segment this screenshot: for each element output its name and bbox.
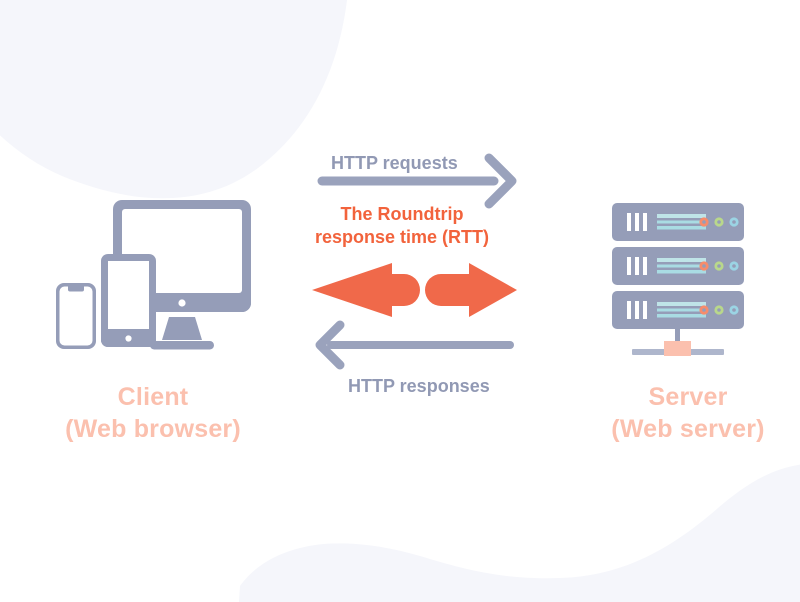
server-stack-group	[612, 203, 744, 356]
rack-data-line-hatched	[657, 258, 706, 262]
client-label: Client (Web browser)	[28, 381, 278, 445]
rack-slot-bar	[627, 213, 631, 231]
rack-led-green-center	[717, 308, 721, 312]
http-responses-label: HTTP responses	[348, 376, 490, 397]
smartphone-icon	[56, 283, 96, 349]
rack-data-line	[657, 265, 706, 268]
rack-data-line-hatched	[657, 214, 706, 218]
phone-screen-inner	[60, 287, 93, 346]
rack-slot-bar	[627, 301, 631, 319]
tablet-icon	[101, 254, 156, 347]
server-label-line2: (Web server)	[563, 413, 800, 445]
server-rack-1	[612, 203, 744, 241]
rack-data-line	[657, 309, 706, 312]
rack-data-line	[657, 314, 706, 318]
rack-led-green-center	[717, 220, 721, 224]
tablet-home-dot	[125, 335, 131, 341]
rack-led-orange-center	[702, 264, 706, 268]
rack-slot-bar	[643, 213, 647, 231]
rack-led-green-center	[717, 264, 721, 268]
rack-led-orange-center	[702, 220, 706, 224]
server-rack-3	[612, 291, 744, 329]
rack-led-blue-center	[732, 264, 736, 268]
rtt-label-line2: response time (RTT)	[292, 226, 512, 249]
server-label-line1: Server	[563, 381, 800, 413]
rtt-label-line1: The Roundtrip	[292, 203, 512, 226]
server-stand-foot	[664, 341, 691, 356]
client-label-line1: Client	[28, 381, 278, 413]
server-rack-2	[612, 247, 744, 285]
rack-slot-bar	[635, 213, 639, 231]
http-requests-label: HTTP requests	[331, 153, 458, 174]
rack-data-line	[657, 226, 706, 230]
client-devices-group	[56, 200, 251, 350]
tablet-screen-inner	[108, 261, 149, 329]
rack-led-blue-center	[732, 220, 736, 224]
monitor-power-dot	[178, 299, 185, 306]
http-responses-arrow	[320, 325, 510, 365]
phone-notch	[68, 287, 84, 292]
rack-data-line	[657, 270, 706, 274]
monitor-stand-neck	[162, 317, 202, 340]
rack-slot-bar	[643, 301, 647, 319]
rack-data-line	[657, 221, 706, 224]
rack-led-blue-center	[732, 308, 736, 312]
server-label: Server (Web server)	[563, 381, 800, 445]
rack-slot-bar	[643, 257, 647, 275]
rack-slot-bar	[635, 257, 639, 275]
client-label-line2: (Web browser)	[28, 413, 278, 445]
rack-data-line-hatched	[657, 302, 706, 306]
monitor-stand-base	[150, 341, 214, 350]
rack-slot-bar	[635, 301, 639, 319]
rtt-left-arrow	[312, 263, 420, 317]
diagram-canvas: Client (Web browser) Server (Web server)…	[0, 0, 800, 602]
rtt-right-arrow	[425, 263, 517, 317]
rack-led-orange-center	[702, 308, 706, 312]
diagram-illustration	[0, 0, 800, 602]
rack-slot-bar	[627, 257, 631, 275]
rtt-arrows-group	[312, 263, 517, 317]
rtt-label: The Roundtrip response time (RTT)	[292, 203, 512, 250]
